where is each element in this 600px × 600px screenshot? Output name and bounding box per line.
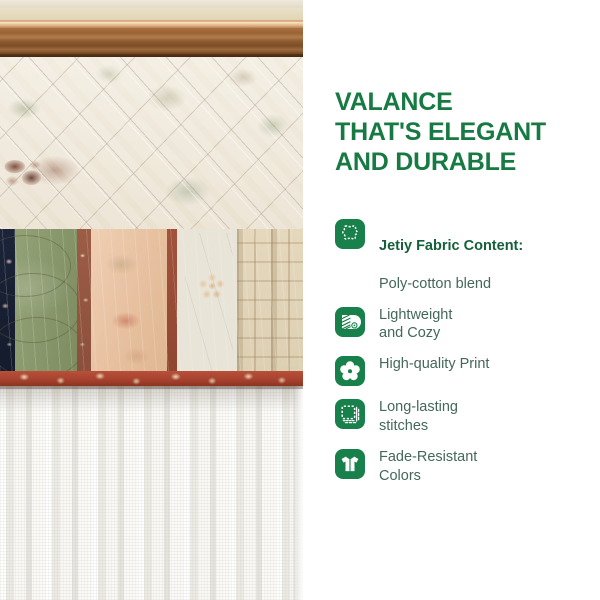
flower-blossom-icon: [335, 356, 365, 386]
feature-item-lightweight: Lightweight and Cozy: [335, 305, 578, 344]
feature-item-print: High-quality Print: [335, 354, 578, 386]
feature-lead-label: Jetiy Fabric Content: [379, 238, 518, 254]
feature-lead-colon: :: [518, 238, 523, 254]
tan-flower-motif: [199, 273, 225, 299]
feature-item-fabric-content: Jetiy Fabric Content: Poly-cotton blend: [335, 217, 578, 293]
cornice-highlight: [0, 22, 303, 28]
leather-hide-icon: [335, 219, 365, 249]
patch-navy: [177, 229, 237, 377]
wooden-cornice: [0, 20, 303, 58]
feature-text-fade-resistant: Fade-Resistant Colors: [379, 447, 477, 486]
curtain-weave-texture: [0, 386, 303, 600]
stitch-square-icon: [335, 399, 365, 429]
floral-binding-strip: [0, 371, 303, 386]
patch-tan-plaid: [237, 229, 303, 377]
quilt-loft-shading: [0, 57, 303, 229]
curtain-top-shadow: [0, 386, 303, 412]
feature-item-stitches: Long-lasting stitches: [335, 397, 578, 436]
patch-peach-floral: [91, 229, 167, 377]
butterfly-motif: [2, 153, 48, 193]
content-panel: VALANCE THAT'S ELEGANT AND DURABLE Jetiy…: [303, 0, 600, 600]
feature-text-lightweight: Lightweight and Cozy: [379, 305, 452, 344]
patch-sage-green: [15, 229, 77, 377]
feature-value: Poly-cotton blend: [379, 276, 491, 292]
sheer-curtain: [0, 386, 303, 600]
feature-list: Jetiy Fabric Content: Poly-cotton blend: [335, 217, 578, 485]
quilt-arc: [0, 317, 83, 379]
feature-text-print: High-quality Print: [379, 354, 489, 374]
feature-item-fade-resistant: Fade-Resistant Colors: [335, 447, 578, 486]
quilted-cream-panel: [0, 57, 303, 229]
patchwork-gather-seam: [0, 0, 303, 8]
headline: VALANCE THAT'S ELEGANT AND DURABLE: [335, 88, 578, 177]
fabric-roll-icon: [335, 307, 365, 337]
curtain-right-edge: [293, 386, 303, 600]
patchwork-band: [0, 229, 303, 377]
tshirt-icon: [335, 449, 365, 479]
product-photo: [0, 0, 303, 600]
patch-rust-strip-narrow: [167, 229, 177, 377]
feature-text-stitches: Long-lasting stitches: [379, 397, 458, 436]
feature-text-fabric-content: Jetiy Fabric Content: Poly-cotton blend: [379, 217, 523, 293]
patch-rust-strip: [77, 229, 91, 377]
product-feature-card: VALANCE THAT'S ELEGANT AND DURABLE Jetiy…: [0, 0, 600, 600]
quilt-vine-stitching: [185, 233, 233, 373]
